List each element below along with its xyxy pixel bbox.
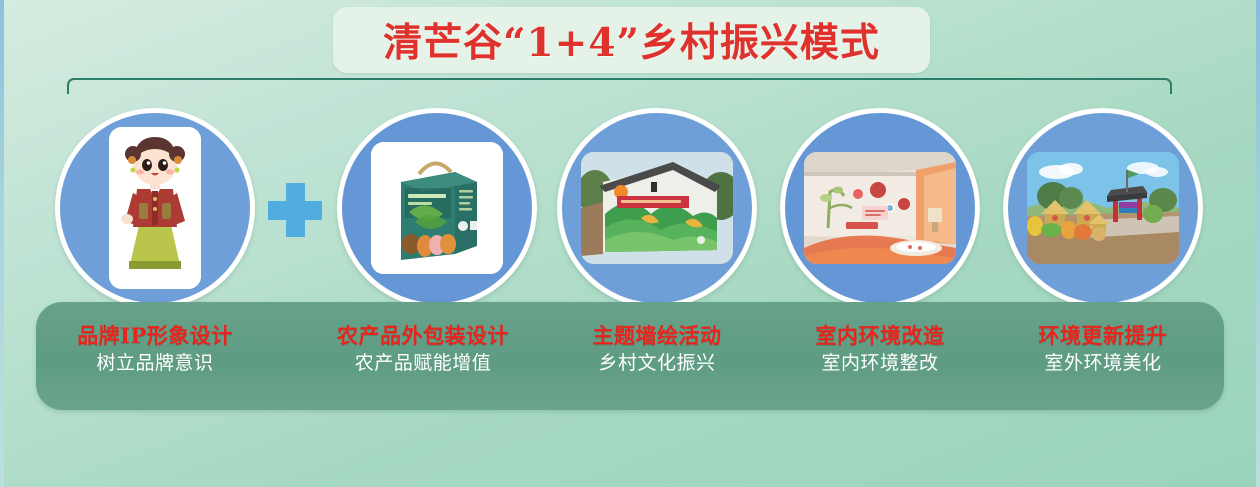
node-circle-mural[interactable]	[557, 108, 757, 308]
node-circle-packaging[interactable]	[337, 108, 537, 308]
node-circle-brand-ip[interactable]	[55, 108, 255, 308]
page-title: 清芒谷“1+4”乡村振兴模式	[383, 12, 880, 68]
agricultural-gift-box-photo	[371, 142, 503, 274]
node-circle-outdoor[interactable]	[1003, 108, 1203, 308]
label-cell-mural: 主题墙绘活动 乡村文化振兴	[532, 324, 782, 375]
mascot-girl-illustration	[109, 127, 201, 289]
title-banner: 清芒谷“1+4”乡村振兴模式	[333, 7, 930, 73]
label-title-brand-ip: 品牌IP形象设计	[30, 324, 280, 348]
label-title-mural: 主题墙绘活动	[532, 324, 782, 348]
left-edge-strip	[0, 0, 4, 487]
label-title-outdoor: 环境更新提升	[978, 324, 1228, 348]
indoor-interior-render-photo	[804, 152, 956, 264]
infographic-canvas: 清芒谷“1+4”乡村振兴模式	[0, 0, 1260, 487]
label-cell-brand-ip: 品牌IP形象设计 树立品牌意识	[30, 324, 280, 375]
village-wall-mural-photo	[581, 152, 733, 264]
label-subtitle-packaging: 农产品赋能增值	[298, 353, 548, 375]
label-cell-packaging: 农产品外包装设计 农产品赋能增值	[298, 324, 548, 375]
right-edge-strip	[1256, 0, 1260, 487]
plus-icon	[268, 183, 322, 237]
label-subtitle-indoor: 室内环境整改	[755, 353, 1005, 375]
label-cell-outdoor: 环境更新提升 室外环境美化	[978, 324, 1228, 375]
plus-icon-vertical-bar	[286, 183, 305, 237]
node-circle-indoor[interactable]	[780, 108, 980, 308]
label-title-indoor: 室内环境改造	[755, 324, 1005, 348]
bracket-connector	[67, 78, 1172, 94]
label-subtitle-outdoor: 室外环境美化	[978, 353, 1228, 375]
label-subtitle-mural: 乡村文化振兴	[532, 353, 782, 375]
label-subtitle-brand-ip: 树立品牌意识	[30, 353, 280, 375]
outdoor-village-entrance-photo	[1027, 152, 1179, 264]
label-cell-indoor: 室内环境改造 室内环境整改	[755, 324, 1005, 375]
label-title-packaging: 农产品外包装设计	[298, 324, 548, 348]
